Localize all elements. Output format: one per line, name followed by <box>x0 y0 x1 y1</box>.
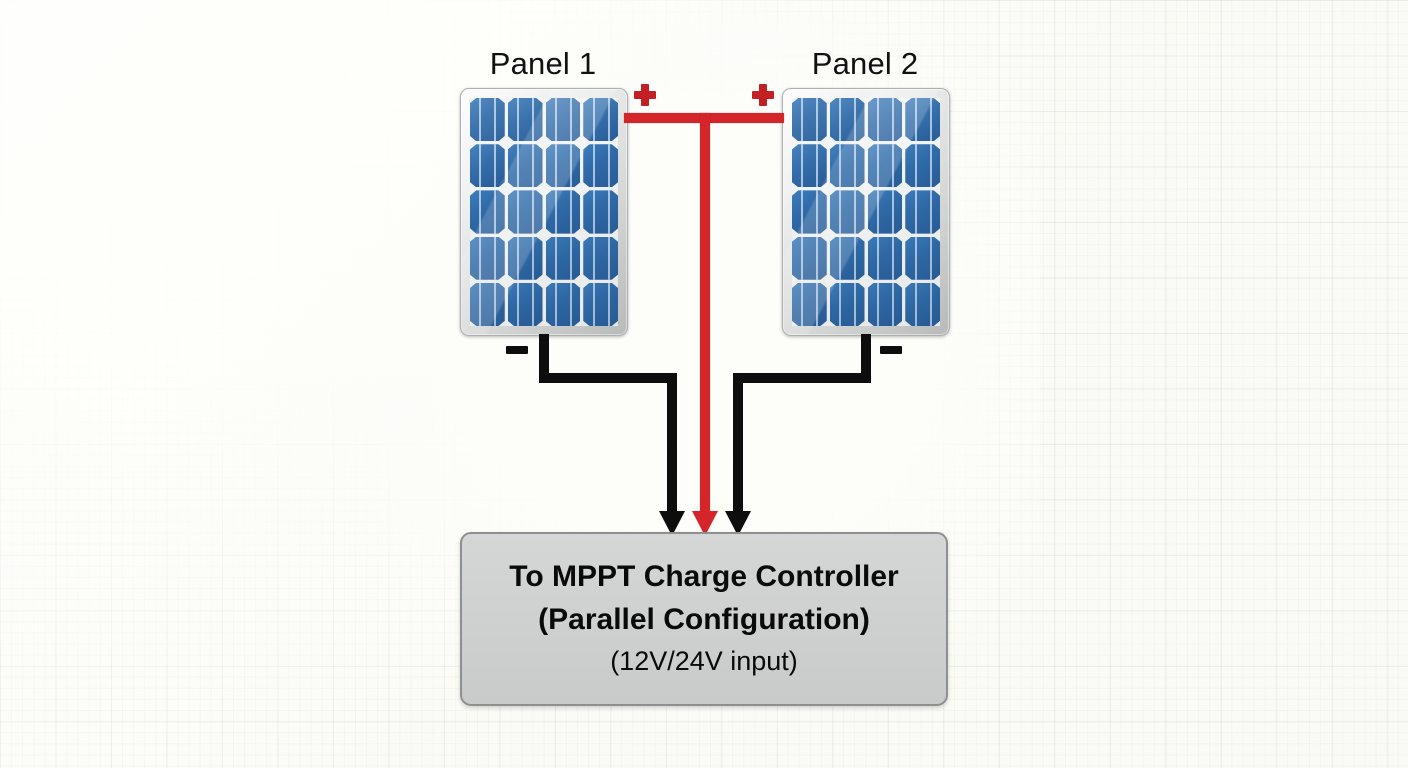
solar-cell <box>868 190 903 233</box>
solar-cell <box>583 98 618 141</box>
minus-sign-panel-1-icon <box>506 346 528 354</box>
solar-cell <box>830 190 865 233</box>
solar-cell <box>546 283 581 326</box>
solar-cell <box>508 237 543 280</box>
solar-panel-2[interactable] <box>782 88 950 336</box>
solar-cell <box>792 98 827 141</box>
solar-cell <box>583 283 618 326</box>
controller-title-line-1: To MPPT Charge Controller <box>509 556 898 599</box>
solar-cell <box>470 144 505 187</box>
negative-wire-panel-1-horizontal <box>539 373 677 383</box>
solar-cell <box>470 237 505 280</box>
solar-cell <box>546 144 581 187</box>
solar-cell <box>508 144 543 187</box>
controller-title-line-2: (Parallel Configuration) <box>538 599 870 642</box>
panel-1-label: Panel 1 <box>460 46 626 82</box>
solar-cell <box>546 98 581 141</box>
solar-cell <box>470 283 505 326</box>
solar-cell <box>905 98 940 141</box>
solar-cell <box>792 144 827 187</box>
solar-panel-1[interactable] <box>460 88 628 336</box>
solar-cell <box>792 283 827 326</box>
plus-sign-panel-1-icon <box>634 84 656 106</box>
solar-cell <box>792 190 827 233</box>
solar-cell-grid-2 <box>792 98 940 326</box>
panel-2-label: Panel 2 <box>782 46 948 82</box>
solar-cell <box>792 237 827 280</box>
plus-sign-panel-2-icon <box>752 84 774 106</box>
solar-cell <box>868 237 903 280</box>
mppt-charge-controller-box[interactable]: To MPPT Charge Controller (Parallel Conf… <box>460 532 948 706</box>
solar-cell <box>470 98 505 141</box>
controller-subtitle: (12V/24V input) <box>610 641 798 682</box>
solar-cell <box>546 190 581 233</box>
solar-cell <box>830 98 865 141</box>
solar-cell <box>508 283 543 326</box>
negative-wire-panel-2-horizontal <box>733 373 871 383</box>
solar-cell <box>905 237 940 280</box>
solar-cell <box>905 283 940 326</box>
solar-cell <box>868 98 903 141</box>
solar-cell <box>583 237 618 280</box>
solar-cell <box>868 283 903 326</box>
solar-cell <box>583 144 618 187</box>
solar-cell <box>583 190 618 233</box>
minus-sign-panel-2-icon <box>880 346 902 354</box>
solar-cell <box>905 144 940 187</box>
solar-cell <box>830 237 865 280</box>
negative-wire-panel-1-drop <box>667 373 677 513</box>
solar-cell <box>830 283 865 326</box>
solar-cell <box>546 237 581 280</box>
solar-cell <box>830 144 865 187</box>
diagram-canvas: Panel 1 Panel 2 <box>0 0 1408 768</box>
negative-wire-panel-2-drop <box>733 373 743 513</box>
solar-cell <box>508 98 543 141</box>
solar-cell-grid-1 <box>470 98 618 326</box>
solar-cell <box>868 144 903 187</box>
solar-cell <box>470 190 505 233</box>
solar-cell <box>508 190 543 233</box>
solar-cell <box>905 190 940 233</box>
positive-wire-drop <box>700 113 710 513</box>
